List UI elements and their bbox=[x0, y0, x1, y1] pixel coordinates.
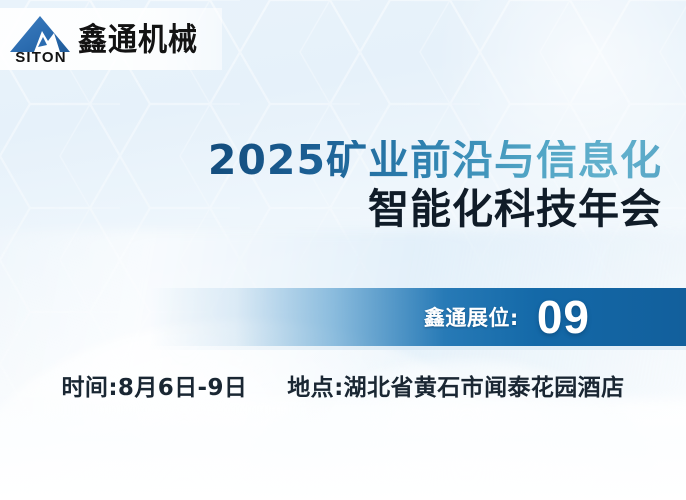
bottom-fade-band bbox=[0, 390, 686, 500]
siton-mountain-icon: SITON bbox=[8, 14, 72, 64]
logo-latin-name: SITON bbox=[10, 50, 72, 65]
headline-line-2: 智能化科技年会 bbox=[208, 189, 662, 231]
booth-label: 鑫通展位: bbox=[424, 302, 519, 332]
conference-poster: SITON 鑫通机械 2025矿业前沿与信息化 智能化科技年会 鑫通展位: 09… bbox=[0, 0, 686, 500]
booth-number: 09 bbox=[537, 294, 590, 340]
event-time: 时间:8月6日-9日 bbox=[62, 368, 248, 402]
poster-headline: 2025矿业前沿与信息化 智能化科技年会 bbox=[208, 140, 662, 231]
booth-banner: 鑫通展位: 09 bbox=[150, 288, 686, 346]
logo-chinese-name: 鑫通机械 bbox=[78, 23, 198, 54]
event-place: 地点:湖北省黄石市闻泰花园酒店 bbox=[287, 368, 624, 402]
event-info-row: 时间:8月6日-9日 地点:湖北省黄石市闻泰花园酒店 bbox=[0, 368, 686, 402]
hexagon-pattern-background bbox=[0, 0, 686, 500]
headline-line-1: 2025矿业前沿与信息化 bbox=[208, 140, 662, 182]
brand-logo: SITON 鑫通机械 bbox=[0, 8, 222, 70]
